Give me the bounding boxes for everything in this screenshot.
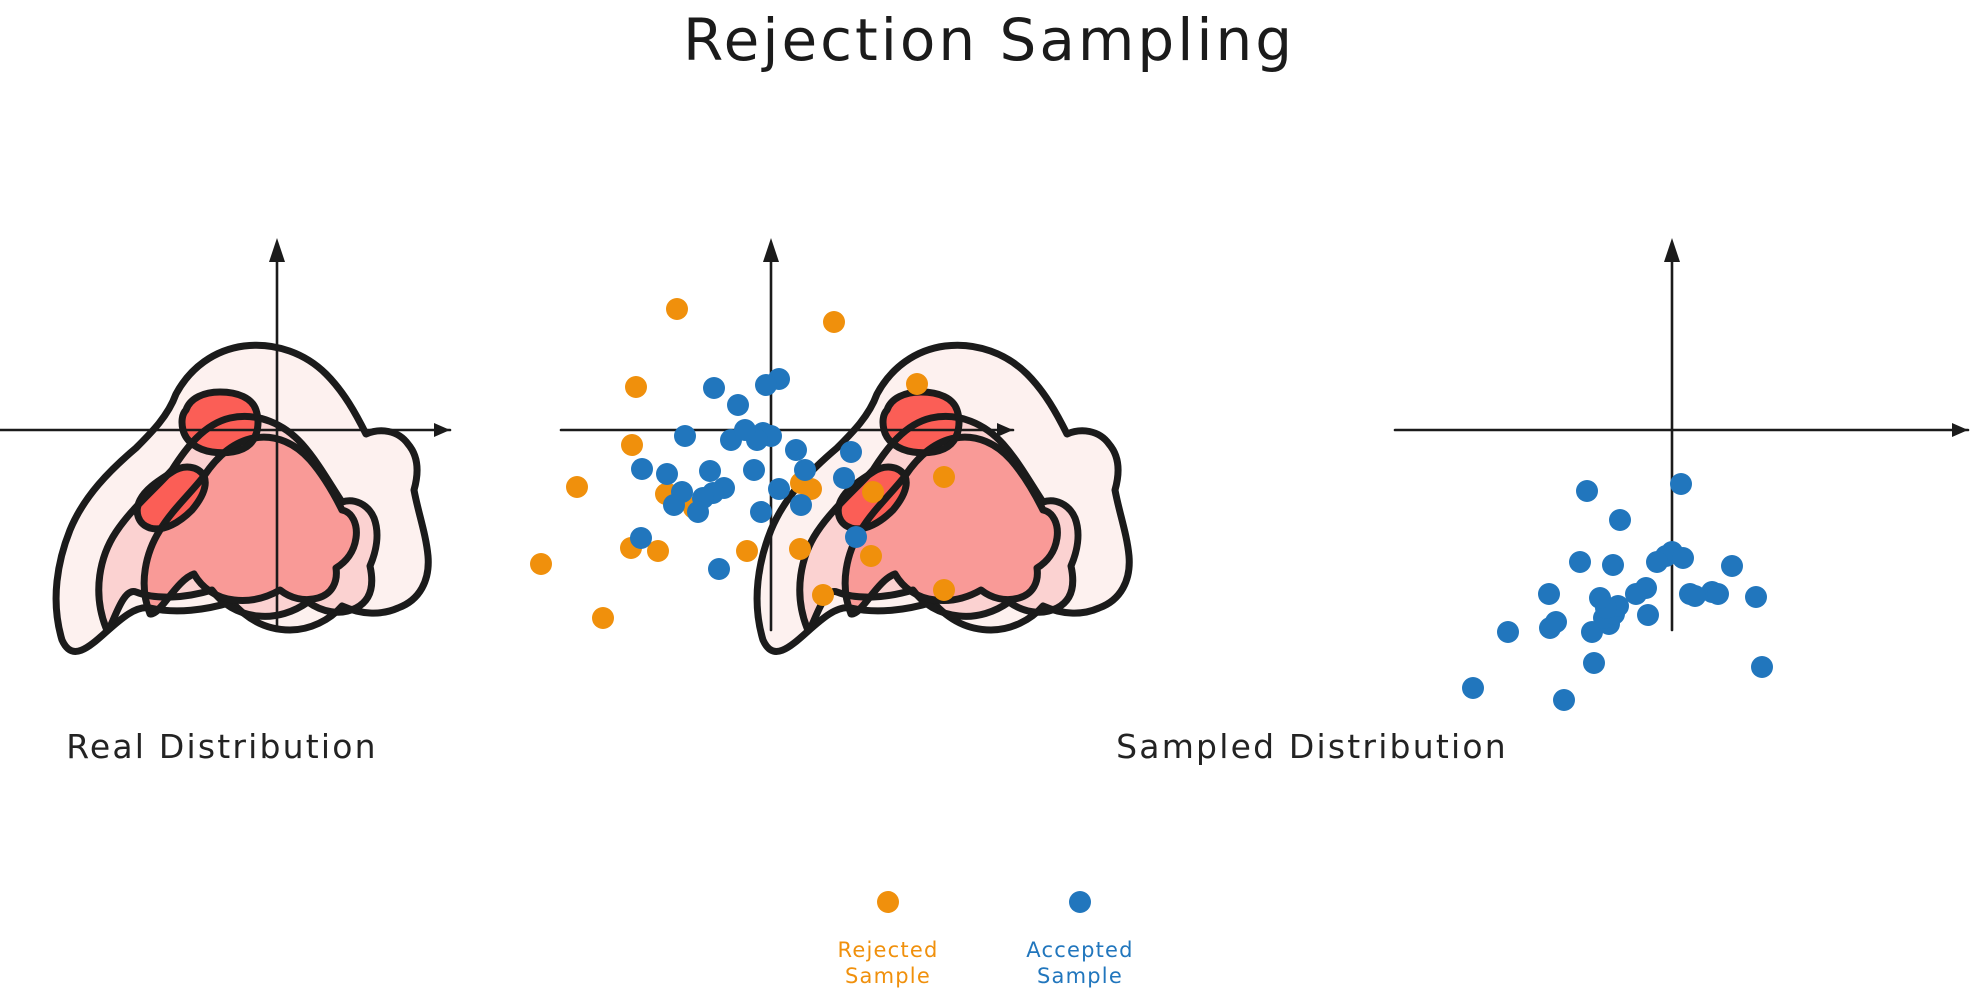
accepted-dot	[703, 377, 725, 399]
rejected-dot	[860, 545, 882, 567]
accepted-dot	[755, 374, 777, 396]
rejected-dot	[592, 607, 614, 629]
rejected-dot	[566, 476, 588, 498]
rejection-sampling-figure: Rejection Sampling Real Dist	[0, 0, 1979, 997]
sampled-dot	[1589, 587, 1611, 609]
page-title: Rejection Sampling	[683, 6, 1295, 74]
sampled-dot	[1670, 473, 1692, 495]
rejected-dot	[933, 466, 955, 488]
rejected-dot	[789, 538, 811, 560]
sampled-dot	[1745, 586, 1767, 608]
rejected-dot	[625, 376, 647, 398]
accepted-dot	[708, 558, 730, 580]
accepted-dot	[734, 419, 756, 441]
sampled-dot	[1707, 583, 1729, 605]
sampled-dot	[1497, 621, 1519, 643]
accepted-dot	[768, 478, 790, 500]
rejected-dot	[862, 481, 884, 503]
rejected-dot	[906, 373, 928, 395]
accepted-dot	[785, 439, 807, 461]
rejected-dot	[666, 298, 688, 320]
accepted-dot	[790, 494, 812, 516]
panel-label-real: Real Distribution	[66, 727, 378, 766]
panel-label-sampled: Sampled Distribution	[1116, 727, 1508, 766]
rejected-dot	[933, 579, 955, 601]
rejected-dot	[621, 434, 643, 456]
accepted-dot	[631, 458, 653, 480]
accepted-dot	[750, 501, 772, 523]
accepted-dot	[845, 526, 867, 548]
accepted-dot	[687, 501, 709, 523]
accepted-dot	[699, 460, 721, 482]
sampled-dot	[1576, 480, 1598, 502]
sampled-dot	[1545, 611, 1567, 633]
sampled-dot	[1625, 583, 1647, 605]
rejected-dot	[530, 553, 552, 575]
sampled-dot	[1583, 652, 1605, 674]
sampled-dot	[1672, 547, 1694, 569]
sampled-dot	[1721, 555, 1743, 577]
sampled-dot	[1538, 583, 1560, 605]
accepted-dot	[840, 441, 862, 463]
accepted-dot	[794, 459, 816, 481]
rejected-sample-legend-dot	[877, 891, 899, 913]
accepted-dot	[743, 459, 765, 481]
rejected-dot	[823, 311, 845, 333]
sampled-dot	[1684, 585, 1706, 607]
sampled-dot	[1609, 509, 1631, 531]
accepted-dot	[727, 394, 749, 416]
legend-label-rejected-line1: Rejected	[838, 938, 939, 962]
legend-label-accepted-line2: Sample	[1037, 964, 1123, 988]
accepted-dot	[833, 467, 855, 489]
figure-canvas: Rejection Sampling Real Dist	[0, 0, 1979, 997]
accepted-sample-legend-dot	[1069, 891, 1091, 913]
legend-label-rejected-line2: Sample	[845, 964, 931, 988]
sampled-dot	[1751, 656, 1773, 678]
accepted-dot	[663, 494, 685, 516]
legend-label-accepted-line1: Accepted	[1026, 938, 1133, 962]
accepted-dot	[656, 463, 678, 485]
sampled-dot	[1553, 689, 1575, 711]
sampled-dot	[1646, 551, 1668, 573]
accepted-dot	[630, 527, 652, 549]
sampled-dot	[1637, 604, 1659, 626]
rejected-dot	[736, 540, 758, 562]
sampled-dot	[1602, 554, 1624, 576]
accepted-dot	[674, 425, 696, 447]
sampled-dot	[1462, 677, 1484, 699]
rejected-dot	[812, 584, 834, 606]
sampled-dot	[1569, 551, 1591, 573]
